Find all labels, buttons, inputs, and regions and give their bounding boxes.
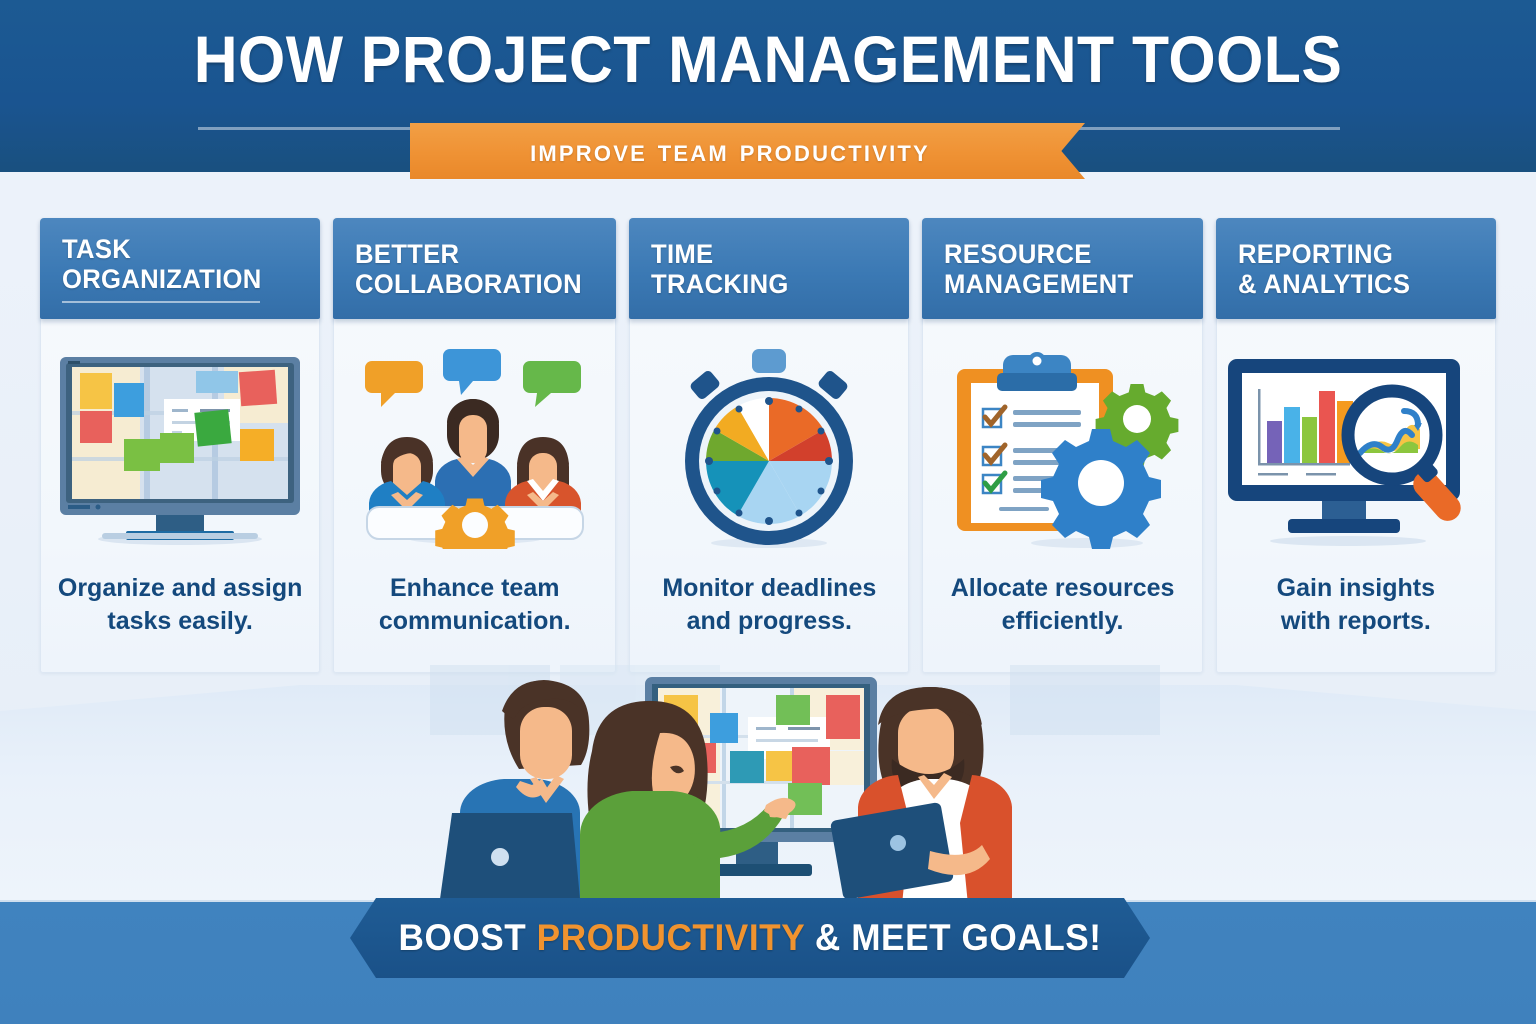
card-header: TIME TRACKING [629,218,909,319]
card-title-rule [62,301,260,303]
title-rule-right [1078,127,1340,130]
clipboard-checklist-gears-icon [923,319,1201,572]
card-header: TASK ORGANIZATION [40,218,320,319]
page-title: HOW PROJECT MANAGEMENT TOOLS [61,22,1474,96]
card-title: TASK ORGANIZATION [62,234,286,294]
card-reporting-analytics[interactable]: REPORTING & ANALYTICS [1216,218,1496,673]
footer-text: BOOST PRODUCTIVITY & MEET GOALS! [398,917,1101,959]
analytics-monitor-magnifier-icon [1217,319,1495,572]
card-header: BETTER COLLABORATION [333,218,616,319]
card-title: RESOURCE MANAGEMENT [944,239,1168,299]
card-task-organization[interactable]: TASK ORGANIZATION [40,218,320,673]
footer-text-after: & MEET GOALS! [805,917,1102,958]
subtitle-banner: Improve team productivity [410,123,1085,179]
subtitle-text: Improve team productivity [410,123,1050,179]
card-header: RESOURCE MANAGEMENT [922,218,1202,319]
infographic-poster: HOW PROJECT MANAGEMENT TOOLS Improve tea… [0,0,1536,1024]
card-header: REPORTING & ANALYTICS [1216,218,1496,319]
team-chat-bubbles-icon [334,319,615,572]
card-title: REPORTING & ANALYTICS [1238,239,1462,299]
team-collaboration-illustration [0,655,1536,905]
footer-highlight: PRODUCTIVITY [537,917,805,958]
feature-card-row: TASK ORGANIZATION [40,218,1496,673]
header-banner: HOW PROJECT MANAGEMENT TOOLS Improve tea… [0,0,1536,172]
footer-ribbon: BOOST PRODUCTIVITY & MEET GOALS! [350,898,1150,978]
card-time-tracking[interactable]: TIME TRACKING [629,218,909,673]
card-title: BETTER COLLABORATION [355,239,582,299]
footer-text-before: BOOST [398,917,536,958]
stopwatch-pie-icon [630,319,908,572]
card-resource-management[interactable]: RESOURCE MANAGEMENT [922,218,1202,673]
card-title: TIME TRACKING [651,239,875,299]
kanban-board-monitor-icon [41,319,319,572]
card-better-collaboration[interactable]: BETTER COLLABORATION [333,218,616,673]
